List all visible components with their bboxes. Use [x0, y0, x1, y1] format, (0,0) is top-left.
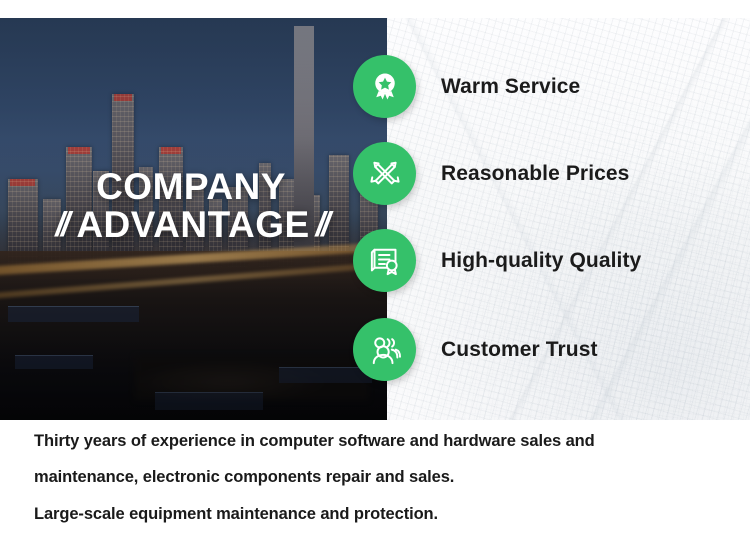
feature-label: Customer Trust	[441, 338, 598, 362]
hero-section: COMPANY //ADVANTAGE// Warm Service	[0, 18, 750, 420]
feature-label: Reasonable Prices	[441, 162, 629, 186]
slash-left-decoration: //	[55, 208, 66, 243]
description-line-3: Large-scale equipment maintenance and pr…	[34, 503, 716, 525]
users-group-icon	[353, 318, 416, 381]
feature-item-reasonable-prices[interactable]: Reasonable Prices	[353, 142, 629, 205]
certificate-icon	[353, 229, 416, 292]
feature-item-high-quality[interactable]: High-quality Quality	[353, 229, 641, 292]
hero-title-line1: COMPANY	[26, 168, 356, 206]
feature-label: High-quality Quality	[441, 249, 641, 273]
slash-right-decoration: //	[316, 208, 327, 243]
company-advantage-banner: COMPANY //ADVANTAGE// Warm Service	[0, 0, 750, 557]
description-line-2: maintenance, electronic components repai…	[34, 466, 716, 488]
hero-title-line2-text: ADVANTAGE	[76, 204, 309, 245]
feature-item-customer-trust[interactable]: Customer Trust	[353, 318, 598, 381]
description-line-1: Thirty years of experience in computer s…	[34, 430, 716, 452]
feature-item-warm-service[interactable]: Warm Service	[353, 55, 580, 118]
feature-list: Warm Service Reasonable Prices	[353, 18, 750, 420]
hero-title-line2: //ADVANTAGE//	[26, 206, 356, 244]
crossed-pencils-icon	[353, 142, 416, 205]
description-block: Thirty years of experience in computer s…	[0, 430, 750, 525]
feature-label: Warm Service	[441, 75, 580, 99]
hero-title: COMPANY //ADVANTAGE//	[26, 168, 356, 243]
award-badge-icon	[353, 55, 416, 118]
